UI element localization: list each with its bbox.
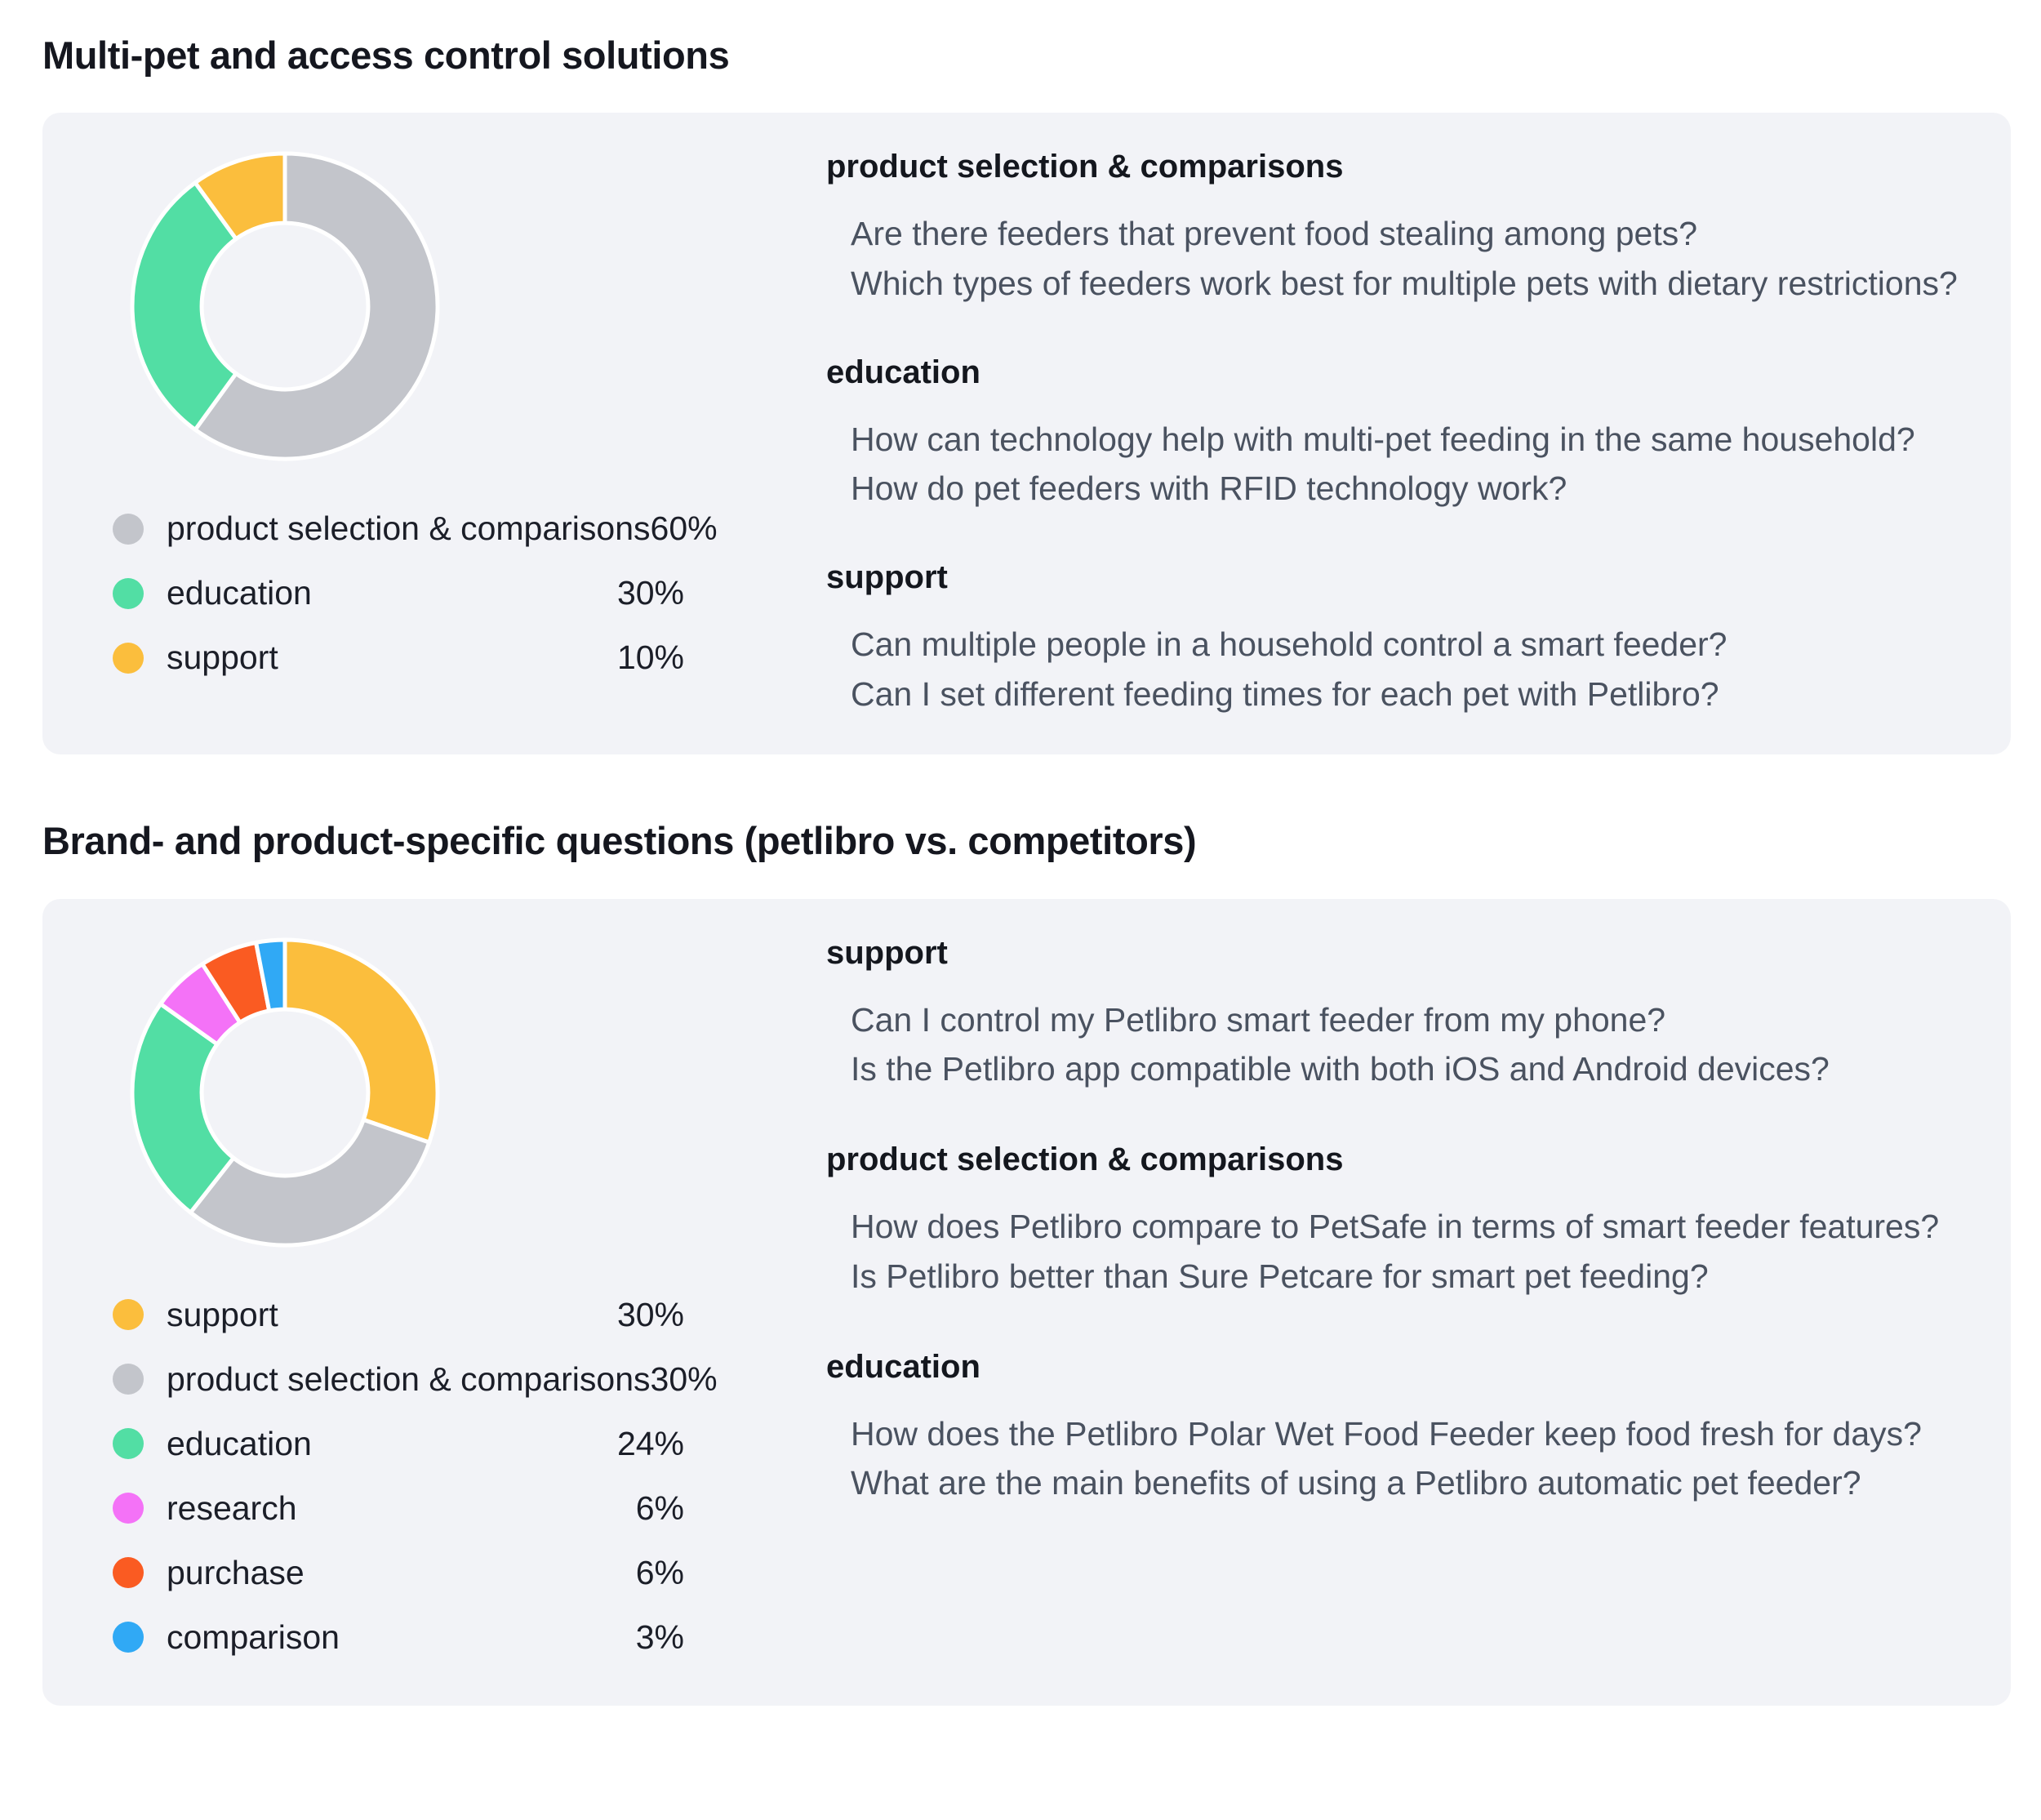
- legend-item[interactable]: product selection & comparisons60%: [113, 496, 782, 561]
- question-item[interactable]: Which types of feeders work best for mul…: [826, 259, 1975, 309]
- question-group-title: support: [826, 935, 1975, 971]
- report-section-2: Brand- and product-specific questions (p…: [42, 818, 2011, 1705]
- question-group: product selection & comparisonsHow does …: [826, 1141, 1975, 1301]
- legend-label: support: [167, 1298, 278, 1332]
- questions-column: product selection & comparisonsAre there…: [813, 144, 1975, 719]
- legend-label: purchase: [167, 1556, 305, 1590]
- chart-column: support30%product selection & comparison…: [78, 930, 813, 1670]
- sections-container: Multi-pet and access control solutionspr…: [42, 33, 2011, 1706]
- legend-label: support: [167, 641, 278, 674]
- question-item[interactable]: How can technology help with multi-pet f…: [826, 415, 1975, 465]
- legend-item[interactable]: education30%: [113, 561, 782, 625]
- donut-chart-svg: [126, 933, 444, 1252]
- legend-color-dot: [113, 1364, 144, 1395]
- legend-percentage: 30%: [617, 576, 782, 610]
- question-item[interactable]: Can I set different feeding times for ea…: [826, 670, 1975, 719]
- question-item[interactable]: How does the Petlibro Polar Wet Food Fee…: [826, 1409, 1975, 1459]
- question-item[interactable]: What are the main benefits of using a Pe…: [826, 1458, 1975, 1508]
- legend-percentage: 30%: [651, 1363, 816, 1396]
- legend-label: education: [167, 1427, 312, 1461]
- chart-legend: product selection & comparisons60%educat…: [113, 496, 782, 690]
- legend-label: product selection & comparisons: [167, 512, 651, 545]
- chart-column: product selection & comparisons60%educat…: [78, 144, 813, 690]
- legend-color-dot: [113, 643, 144, 674]
- question-item[interactable]: Can I control my Petlibro smart feeder f…: [826, 995, 1975, 1045]
- legend-item[interactable]: purchase6%: [113, 1541, 782, 1605]
- question-item[interactable]: Are there feeders that prevent food stea…: [826, 209, 1975, 259]
- legend-percentage: 6%: [636, 1492, 782, 1525]
- section-title: Brand- and product-specific questions (p…: [42, 818, 2011, 864]
- legend-color-dot: [113, 1299, 144, 1330]
- legend-item[interactable]: education24%: [113, 1412, 782, 1476]
- question-group: supportCan I control my Petlibro smart f…: [826, 935, 1975, 1094]
- chart-legend: support30%product selection & comparison…: [113, 1283, 782, 1670]
- section-title: Multi-pet and access control solutions: [42, 33, 2011, 78]
- legend-item[interactable]: support30%: [113, 1283, 782, 1347]
- question-item[interactable]: Can multiple people in a household contr…: [826, 620, 1975, 670]
- question-group: supportCan multiple people in a househol…: [826, 559, 1975, 719]
- legend-label: product selection & comparisons: [167, 1363, 651, 1396]
- question-group: educationHow can technology help with mu…: [826, 354, 1975, 514]
- question-group-title: product selection & comparisons: [826, 1141, 1975, 1177]
- question-item[interactable]: Is Petlibro better than Sure Petcare for…: [826, 1252, 1975, 1302]
- topic-card: product selection & comparisons60%educat…: [42, 113, 2011, 754]
- donut-chart: [126, 933, 444, 1252]
- question-item[interactable]: How does Petlibro compare to PetSafe in …: [826, 1202, 1975, 1252]
- legend-item[interactable]: comparison3%: [113, 1605, 782, 1670]
- question-group-title: support: [826, 559, 1975, 595]
- donut-slice-product-selection-comparisons[interactable]: [190, 1119, 429, 1245]
- legend-label: research: [167, 1492, 297, 1525]
- question-group-title: education: [826, 354, 1975, 390]
- report-section-1: Multi-pet and access control solutionspr…: [42, 33, 2011, 754]
- question-item[interactable]: How do pet feeders with RFID technology …: [826, 464, 1975, 514]
- legend-color-dot: [113, 578, 144, 609]
- legend-percentage: 10%: [617, 641, 782, 674]
- legend-color-dot: [113, 1428, 144, 1459]
- legend-item[interactable]: support10%: [113, 625, 782, 690]
- legend-percentage: 6%: [636, 1556, 782, 1590]
- report-page: Multi-pet and access control solutionspr…: [0, 0, 2041, 1706]
- legend-label: education: [167, 576, 312, 610]
- legend-color-dot: [113, 514, 144, 545]
- question-group-title: product selection & comparisons: [826, 149, 1975, 185]
- legend-color-dot: [113, 1622, 144, 1653]
- legend-label: comparison: [167, 1621, 340, 1654]
- questions-column: supportCan I control my Petlibro smart f…: [813, 930, 1975, 1555]
- question-group: educationHow does the Petlibro Polar Wet…: [826, 1349, 1975, 1508]
- question-item[interactable]: Is the Petlibro app compatible with both…: [826, 1044, 1975, 1094]
- donut-chart: [126, 147, 444, 465]
- topic-card: support30%product selection & comparison…: [42, 899, 2011, 1706]
- legend-percentage: 24%: [617, 1427, 782, 1461]
- legend-percentage: 60%: [651, 512, 816, 545]
- legend-percentage: 30%: [617, 1298, 782, 1332]
- legend-item[interactable]: product selection & comparisons30%: [113, 1347, 782, 1412]
- question-group: product selection & comparisonsAre there…: [826, 149, 1975, 308]
- legend-color-dot: [113, 1557, 144, 1588]
- legend-percentage: 3%: [636, 1621, 782, 1654]
- legend-color-dot: [113, 1493, 144, 1524]
- donut-chart-svg: [126, 147, 444, 465]
- donut-slice-support[interactable]: [285, 940, 438, 1142]
- legend-item[interactable]: research6%: [113, 1476, 782, 1541]
- question-group-title: education: [826, 1349, 1975, 1385]
